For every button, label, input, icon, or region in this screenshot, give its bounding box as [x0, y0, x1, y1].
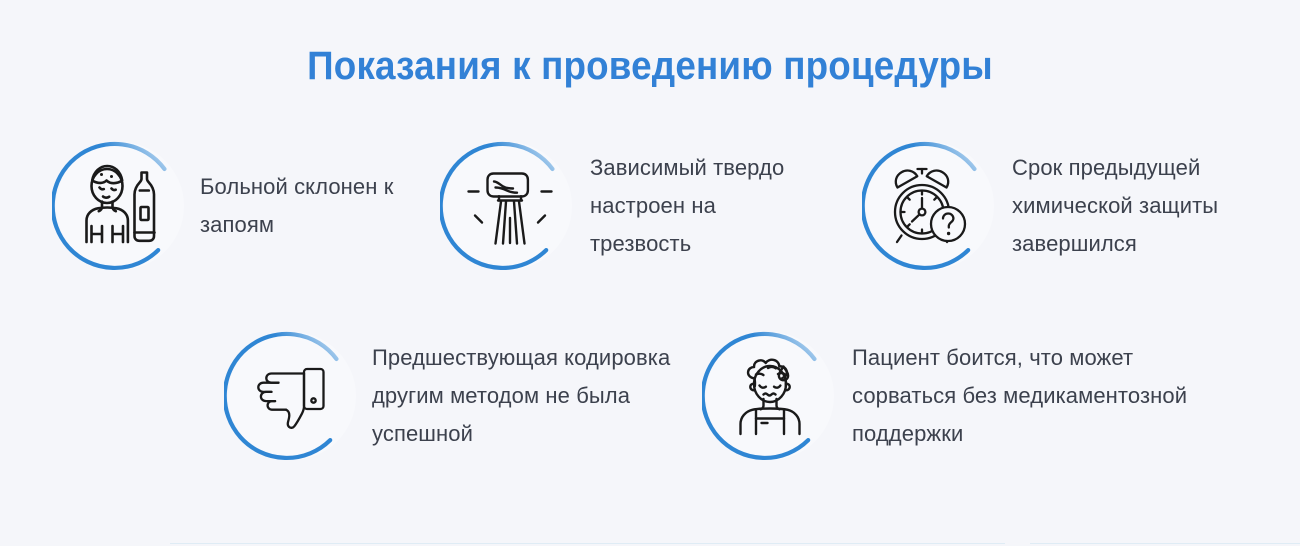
bottom-divider-left: [170, 543, 1005, 544]
indication-text-2: Зависимый твердо настроен на трезвость: [590, 149, 820, 263]
infographic-root: Показания к проведению процедуры: [0, 0, 1300, 546]
raised-fist-icon: [440, 138, 576, 274]
icon-badge-4: [224, 328, 360, 464]
indication-text-1: Больной склонен к запоям: [200, 168, 436, 244]
indication-item-4: Предшествующая кодировка другим методом …: [224, 328, 712, 464]
worried-patient-icon: [702, 328, 838, 464]
indication-item-2: Зависимый твердо настроен на трезвость: [440, 138, 820, 274]
bottom-divider-right: [1030, 543, 1300, 544]
icon-badge-1: [52, 138, 188, 274]
thumbs-down-icon: [224, 328, 360, 464]
indication-item-1: Больной склонен к запоям: [52, 138, 436, 274]
indication-text-3: Срок предыдущей химической защиты заверш…: [1012, 149, 1260, 263]
indication-text-4: Предшествующая кодировка другим методом …: [372, 339, 712, 453]
man-with-bottle-icon: [52, 138, 188, 274]
page-title: Показания к проведению процедуры: [52, 44, 1248, 89]
icon-badge-3: [862, 138, 998, 274]
alarm-clock-question-icon: [862, 138, 998, 274]
icon-badge-2: [440, 138, 576, 274]
indication-item-5: Пациент боится, что может сорваться без …: [702, 328, 1208, 464]
indication-text-5: Пациент боится, что может сорваться без …: [852, 339, 1208, 453]
icon-badge-5: [702, 328, 838, 464]
indication-item-3: Срок предыдущей химической защиты заверш…: [862, 138, 1260, 274]
